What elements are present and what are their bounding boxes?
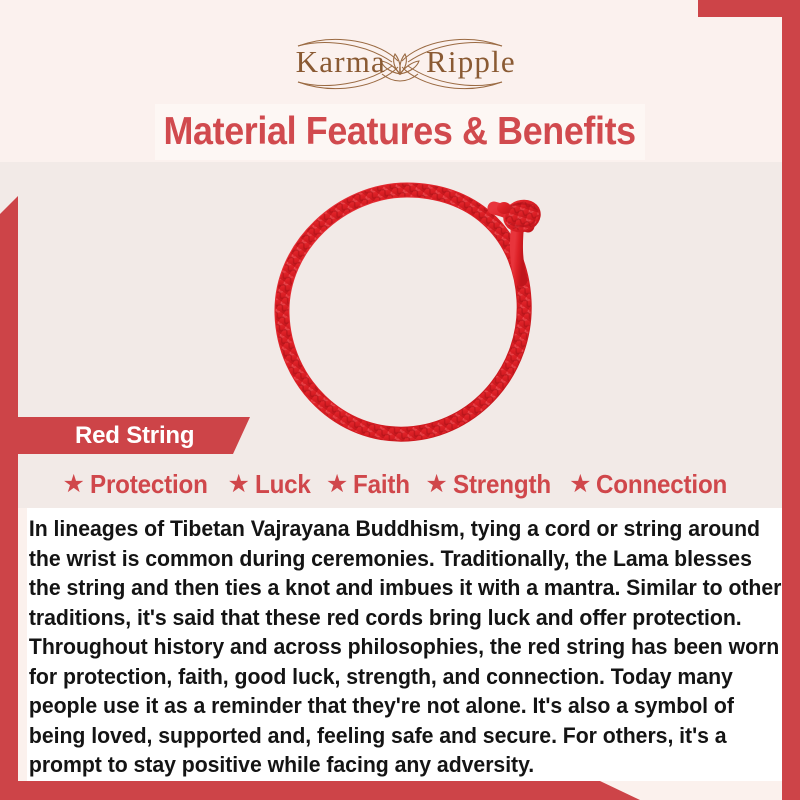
feature-item: ★ Luck bbox=[228, 469, 315, 500]
frame-accent-bottom bbox=[0, 781, 640, 800]
page-title: Material Features & Benefits bbox=[164, 110, 636, 154]
feature-item: ★ Protection bbox=[63, 469, 217, 500]
feature-label: Faith bbox=[353, 469, 410, 500]
feature-label: Strength bbox=[453, 469, 551, 500]
frame-accent-left bbox=[0, 196, 18, 800]
feature-item: ★ Connection bbox=[569, 469, 737, 500]
star-icon: ★ bbox=[569, 472, 591, 497]
feature-label: Protection bbox=[90, 469, 208, 500]
feature-item: ★ Faith bbox=[326, 469, 415, 500]
features-list: ★ Protection ★ Luck ★ Faith ★ Strength ★… bbox=[20, 466, 780, 502]
brand-logo: Karma Ripple bbox=[0, 34, 800, 94]
product-image-bracelet bbox=[232, 168, 582, 468]
bracelet-illustration bbox=[232, 168, 582, 468]
star-icon: ★ bbox=[326, 472, 348, 497]
brand-name-left: Karma bbox=[296, 44, 386, 79]
material-banner-label: Red String bbox=[75, 422, 194, 450]
description-text: In lineages of Tibetan Vajrayana Buddhis… bbox=[27, 514, 791, 780]
brand-logo-svg: Karma Ripple bbox=[240, 34, 560, 94]
brand-name-right: Ripple bbox=[426, 44, 516, 79]
star-icon: ★ bbox=[425, 472, 447, 497]
material-banner: Red String bbox=[18, 417, 250, 454]
star-icon: ★ bbox=[228, 472, 250, 497]
bracelet-cord-braid-texture bbox=[282, 190, 524, 434]
page-title-band: Material Features & Benefits bbox=[155, 104, 645, 160]
infographic-page: Karma Ripple Material Features & Benefit… bbox=[0, 0, 800, 800]
feature-label: Luck bbox=[255, 469, 311, 500]
star-icon: ★ bbox=[63, 472, 85, 497]
feature-label: Connection bbox=[596, 469, 727, 500]
feature-item: ★ Strength bbox=[425, 469, 558, 500]
description-panel: In lineages of Tibetan Vajrayana Buddhis… bbox=[27, 508, 782, 781]
